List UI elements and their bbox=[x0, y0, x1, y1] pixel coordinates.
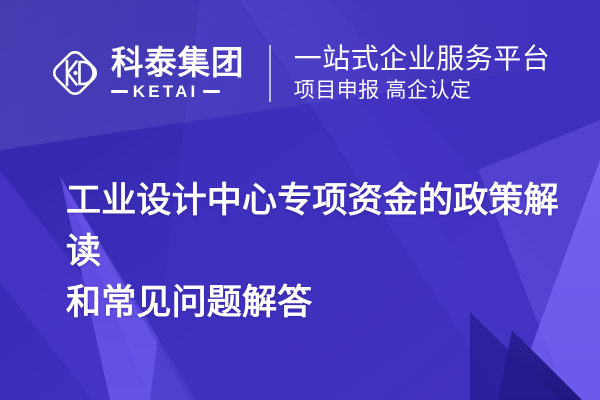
brand-name-en: KETAI bbox=[133, 83, 199, 100]
brand-wordmark: 科泰集团 KETAI bbox=[111, 46, 247, 100]
brand-logo[interactable]: 科泰集团 KETAI bbox=[50, 46, 269, 100]
headline-title: 工业设计中心专项资金的政策解读 和常见问题解答 bbox=[66, 175, 566, 328]
ketai-diamond-kd-monogram-icon bbox=[50, 48, 100, 98]
tagline-secondary: 项目申报 高企认定 bbox=[294, 77, 551, 103]
banner-header: 科泰集团 KETAI 一站式企业服务平台 项目申报 高企认定 bbox=[0, 34, 600, 112]
promo-banner: 科泰集团 KETAI 一站式企业服务平台 项目申报 高企认定 工业设计中心专项资… bbox=[0, 0, 600, 400]
brand-name-en-row: KETAI bbox=[111, 83, 247, 100]
wordmark-dash-right bbox=[203, 90, 220, 93]
tagline-primary: 一站式企业服务平台 bbox=[294, 43, 551, 74]
tagline-block: 一站式企业服务平台 项目申报 高企认定 bbox=[271, 43, 551, 104]
brand-name-cn: 科泰集团 bbox=[111, 46, 244, 80]
wordmark-dash-left bbox=[111, 90, 128, 93]
